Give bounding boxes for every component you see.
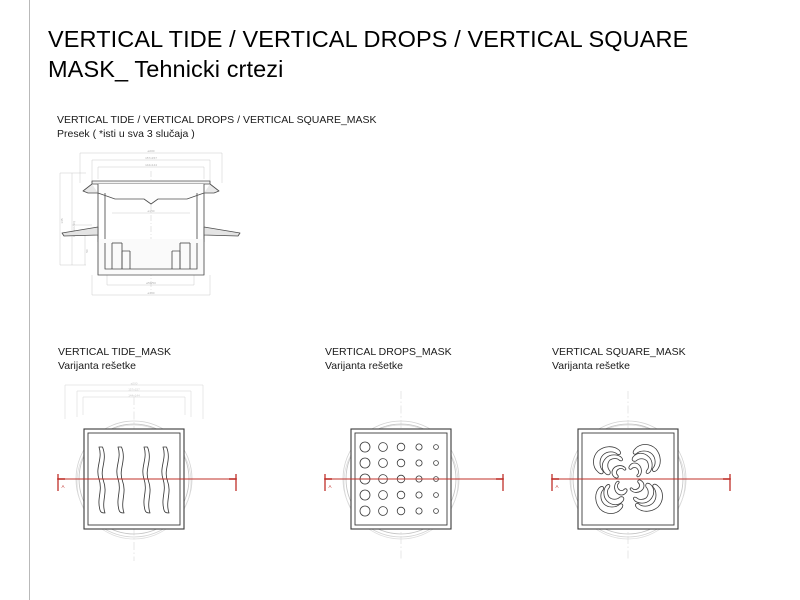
drop-hole	[434, 461, 439, 466]
drop-hole	[397, 459, 405, 467]
drop-hole	[397, 443, 405, 451]
svg-text:ø50/50: ø50/50	[146, 281, 156, 285]
drop-hole	[416, 460, 422, 466]
square-section-marker-label: A	[556, 484, 559, 489]
drop-hole	[416, 508, 422, 514]
svg-text:ø100: ø100	[147, 291, 154, 295]
drop-hole	[360, 442, 370, 452]
svg-text:144x144: 144x144	[128, 394, 140, 398]
svg-text:50: 50	[85, 249, 89, 253]
tide-section-marker-label: A	[62, 484, 65, 489]
svg-text:ø200: ø200	[131, 382, 138, 386]
drop-hole	[360, 490, 370, 500]
tide-dimension-labels: ø200 157x157 144x144	[128, 382, 140, 398]
svg-text:ø150: ø150	[147, 209, 154, 213]
drop-hole	[379, 443, 388, 452]
svg-text:135: 135	[60, 218, 64, 223]
drop-hole	[379, 507, 388, 516]
drop-hole	[379, 459, 388, 468]
vertical-tide-mask-drawing: ø200 157x157 144x144	[55, 383, 305, 573]
drop-hole	[416, 444, 422, 450]
drop-hole	[360, 506, 370, 516]
drop-hole	[434, 509, 439, 514]
drop-hole	[434, 493, 439, 498]
vertical-tide-mask-heading: VERTICAL TIDE_MASK Varijanta rešetke	[58, 345, 171, 373]
svg-text:ø200: ø200	[147, 149, 154, 153]
page-title: VERTICAL TIDE / VERTICAL DROPS / VERTICA…	[48, 24, 768, 84]
drop-hole	[397, 507, 405, 515]
vertical-drops-mask-heading: VERTICAL DROPS_MASK Varijanta rešetke	[325, 345, 452, 373]
vertical-square-mask-drawing: A	[549, 383, 799, 573]
slide-canvas: VERTICAL TIDE / VERTICAL DROPS / VERTICA…	[0, 0, 800, 600]
svg-text:157x157: 157x157	[128, 388, 140, 392]
drop-hole	[360, 458, 370, 468]
cross-section-heading: VERTICAL TIDE / VERTICAL DROPS / VERTICA…	[57, 113, 377, 141]
svg-text:144x144: 144x144	[145, 163, 157, 167]
drop-hole	[379, 491, 388, 500]
cross-section-drawing: ø200 157x157 144x144 ø150 ø50/50 ø100 13…	[52, 143, 302, 303]
drop-hole	[416, 492, 422, 498]
vertical-square-mask-heading: VERTICAL SQUARE_MASK Varijanta rešetke	[552, 345, 686, 373]
vertical-drops-mask-drawing: A	[322, 383, 572, 573]
drop-hole	[434, 445, 439, 450]
drop-hole	[397, 491, 405, 499]
slide-left-rule	[29, 0, 30, 600]
svg-text:157x157: 157x157	[145, 156, 157, 160]
drops-section-marker-label: A	[329, 484, 332, 489]
